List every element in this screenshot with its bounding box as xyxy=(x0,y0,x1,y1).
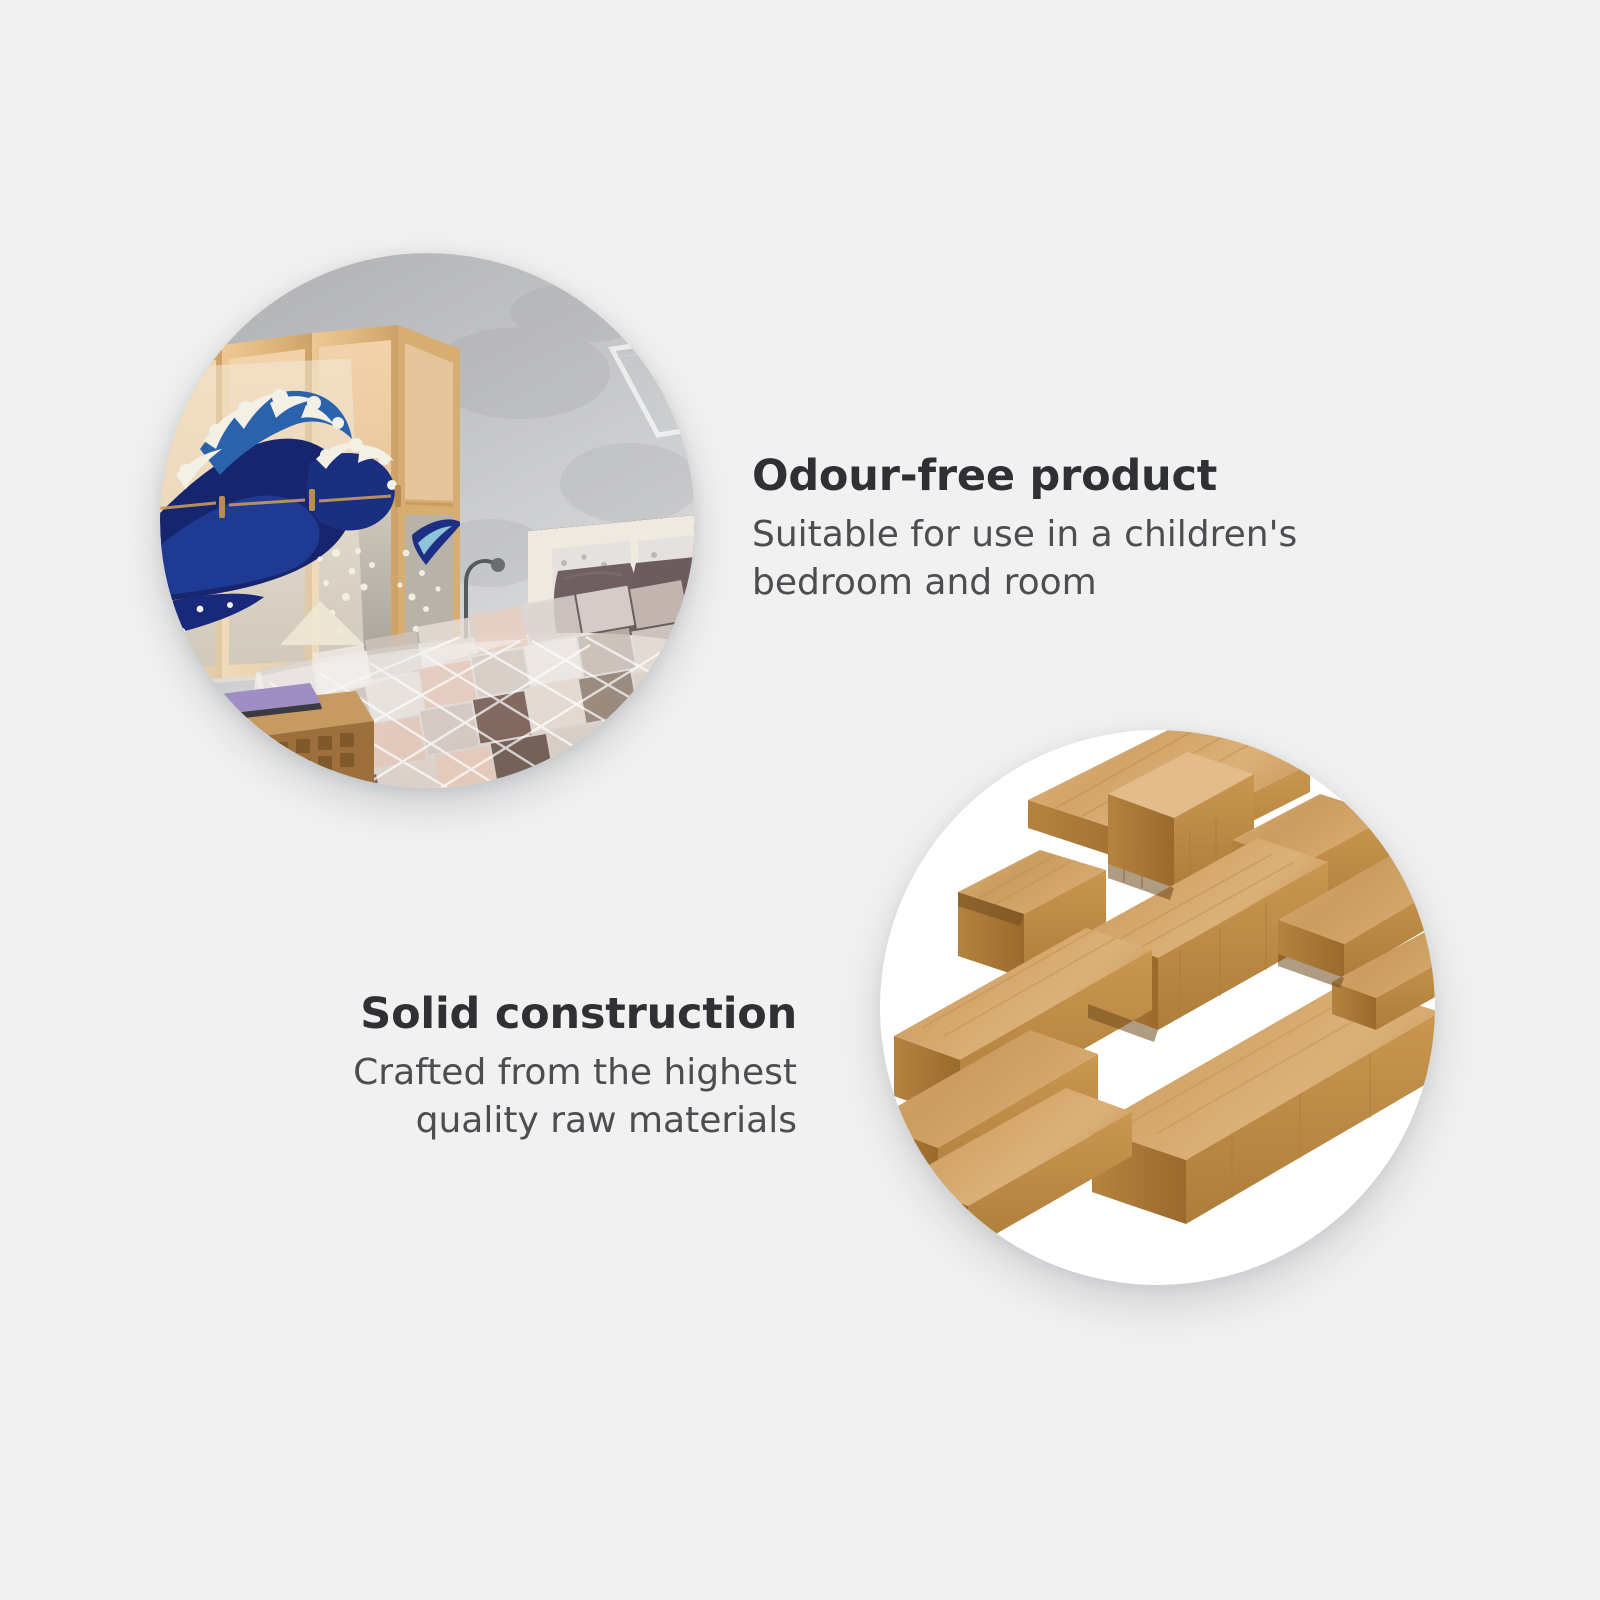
feature-text-solid-construction: Solid construction Crafted from the high… xyxy=(235,990,797,1144)
feature-description-odour-free: Suitable for use in a children's bedroom… xyxy=(752,511,1312,606)
infographic-canvas: Odour-free product Suitable for use in a… xyxy=(0,0,1600,1600)
feature-image-timber xyxy=(880,730,1435,1285)
feature-description-solid-construction: Crafted from the highest quality raw mat… xyxy=(235,1049,797,1144)
feature-text-odour-free: Odour-free product Suitable for use in a… xyxy=(752,452,1312,606)
feature-title-solid-construction: Solid construction xyxy=(235,990,797,1039)
folding-screen xyxy=(160,325,462,687)
screen-panel-4 xyxy=(398,325,460,669)
bedroom-illustration xyxy=(160,253,695,788)
feature-image-bedroom xyxy=(160,253,695,788)
bench-with-laptop xyxy=(212,683,374,788)
timber-illustration xyxy=(880,730,1435,1285)
feature-title-odour-free: Odour-free product xyxy=(752,452,1312,501)
